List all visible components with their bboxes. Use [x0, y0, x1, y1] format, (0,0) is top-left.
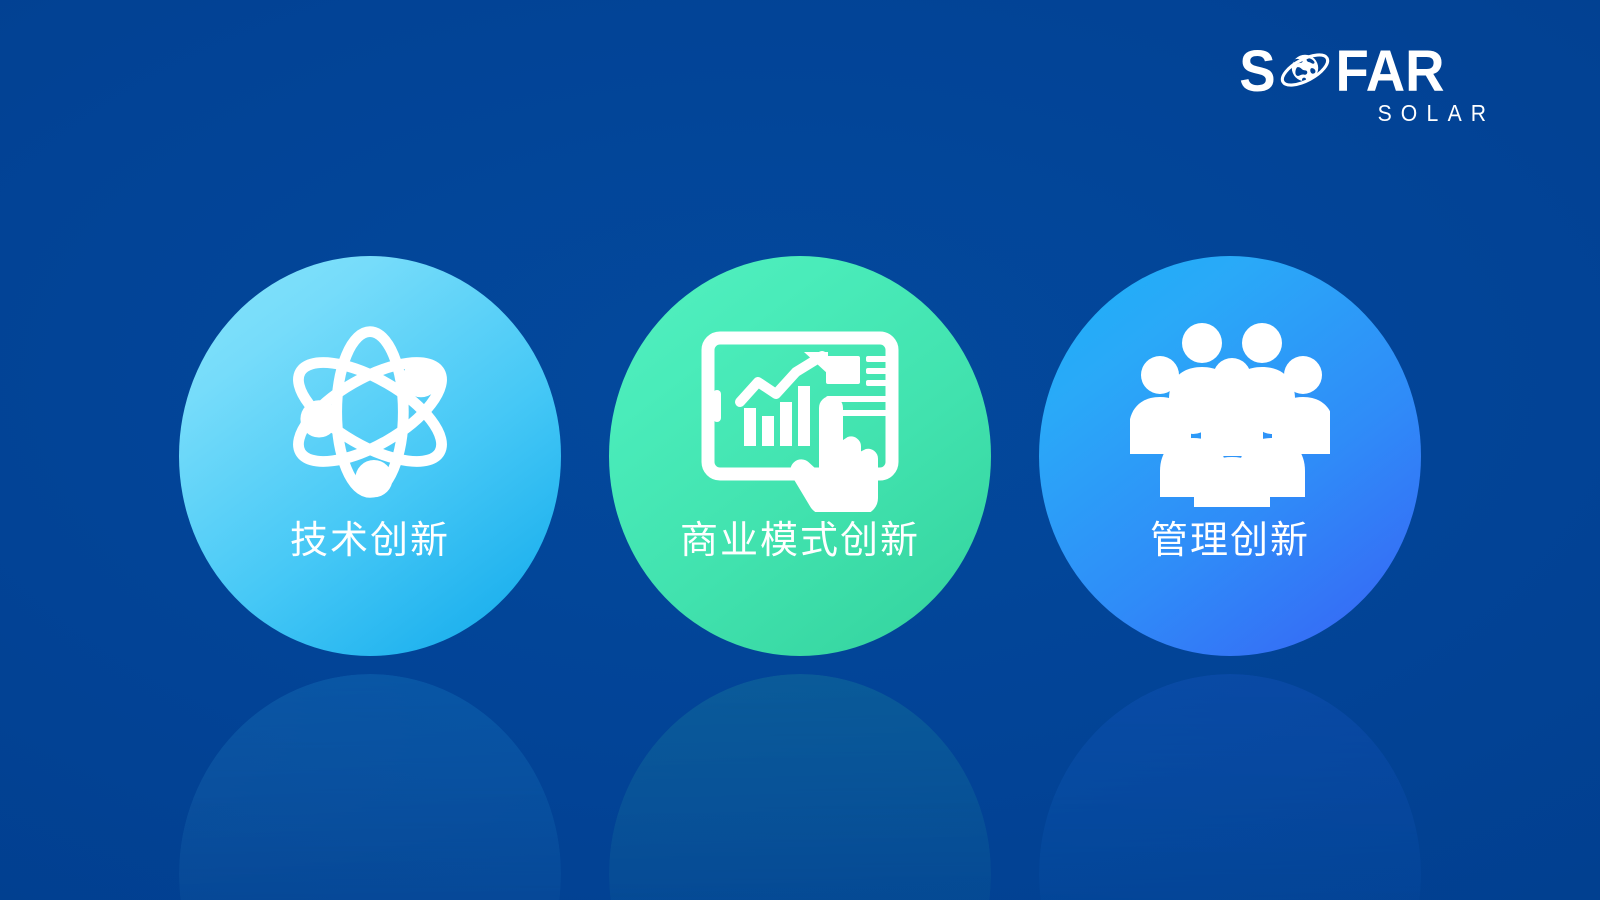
people-group-icon	[1130, 312, 1330, 512]
logo-subtitle-letter-o: O	[1401, 100, 1418, 126]
card-label-technology-innovation: 技术创新	[290, 518, 450, 564]
card-label-management-innovation: 管理创新	[1150, 518, 1310, 564]
logo-subtitle-letter-s: S	[1378, 100, 1393, 126]
card-technology-innovation[interactable]: 技术创新	[179, 256, 561, 656]
logo-wordmark: S	[1238, 44, 1490, 100]
reflection-management-innovation	[1039, 672, 1421, 900]
logo-letter-s: S	[1239, 44, 1276, 100]
innovation-cards-row: 技术创新	[0, 256, 1600, 676]
logo-subtitle-letter-l: L	[1427, 100, 1440, 126]
slide-canvas: S	[0, 0, 1600, 900]
tablet-chart-hand-icon	[700, 312, 900, 512]
atom-icon	[270, 312, 470, 512]
logo-subtitle-letter-r: R	[1471, 100, 1487, 126]
globe-orbit-icon	[1277, 44, 1333, 100]
logo-letters-far: FAR	[1335, 44, 1444, 100]
card-management-innovation[interactable]: 管理创新	[1039, 256, 1421, 656]
card-reflections	[0, 672, 1600, 900]
card-label-business-model-innovation: 商业模式创新	[680, 518, 920, 564]
logo-subtitle: S O L A R	[1377, 100, 1488, 126]
logo-subtitle-letter-a: A	[1448, 100, 1463, 126]
reflection-technology-innovation	[179, 672, 561, 900]
sofar-solar-logo: S	[1238, 44, 1490, 130]
card-business-model-innovation[interactable]: 商业模式创新	[609, 256, 991, 656]
reflection-business-model-innovation	[609, 672, 991, 900]
